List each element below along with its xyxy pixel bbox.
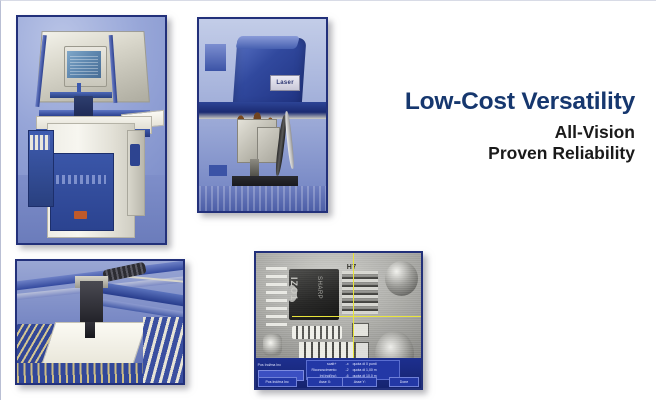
vision-ui-readout-label: scatt+ — [309, 362, 337, 366]
vision-ui-readout-value: quota di 1,00 m — [353, 368, 397, 372]
head-blue-housing-top — [235, 36, 300, 49]
vision-crosshair-vertical — [353, 253, 354, 358]
vision-ui-readout-value: quota di 0 punti — [353, 362, 397, 366]
subtitle-proven-reliability: Proven Reliability — [381, 143, 635, 164]
photo-dispense-head-closeup: Laser Close-up of blue gantry dispense h… — [197, 17, 328, 213]
vision-ui-readout-label: Riconoscimento — [309, 368, 337, 372]
machine-cabinet-handle — [74, 211, 87, 219]
gantry-right-feeders — [143, 317, 183, 383]
gantry-head — [80, 281, 103, 322]
vision-photo-scene: IZO1 SHARP H7 Pos Ind/ma Inc scatt+ -x — [256, 253, 421, 388]
vision-ui-readout-index: -2 — [340, 368, 348, 372]
gantry-photo-scene — [17, 261, 183, 383]
vision-ui-status-bar: Pos Ind/ma Inc scatt+ -x quota di 0 punt… — [256, 358, 421, 388]
vision-ui-button-pos[interactable]: Pos Ind/ma Inc — [258, 377, 297, 388]
vision-ui-readout-index: -x — [340, 362, 348, 366]
head-photo-scene: Laser — [199, 19, 326, 211]
gantry-bottom-feeders — [17, 363, 146, 383]
vision-crosshair-horizontal — [292, 316, 421, 317]
head-circuit-board — [199, 186, 326, 211]
vision-ui-axis-x-label[interactable]: Asse X: — [307, 377, 343, 388]
machine-monitor-screen — [67, 51, 101, 78]
page-title: Low-Cost Versatility — [381, 89, 635, 115]
gantry-cable-carrier — [103, 262, 148, 283]
head-laser-nameplate: Laser — [270, 75, 300, 91]
machine-cabinet-door — [50, 153, 114, 232]
machine-right-column — [127, 130, 145, 216]
subtitle-all-vision: All-Vision — [381, 122, 635, 143]
headline-text-block: Low-Cost Versatility All-Vision Proven R… — [381, 89, 635, 164]
machine-cabinet-graphic — [56, 175, 106, 184]
photo-gantry-laser-on-panel: Gantry head projecting red laser onto bo… — [15, 259, 185, 385]
vision-ui-button-done[interactable]: Done — [389, 377, 420, 388]
machine-left-slots — [30, 135, 51, 151]
machine-right-blue-module — [130, 144, 140, 167]
head-nozzle — [250, 159, 259, 176]
head-left-blue-bracket — [209, 165, 227, 177]
vision-ui-mode-label: Pos Ind/ma Inc — [258, 359, 303, 371]
photo-machine-vision-screen: IZO1 SHARP H7 Pos Ind/ma Inc scatt+ -x — [254, 251, 423, 390]
photo-benchtop-dispensing-machine: Floor-standing dispensing system with ov… — [16, 15, 167, 245]
head-white-cable — [284, 111, 295, 169]
machine-photo-scene — [18, 17, 165, 243]
head-left-blue-block — [205, 44, 225, 71]
vision-ui-axis-y-label[interactable]: Asse Y: — [342, 377, 378, 388]
brochure-slide: Floor-standing dispensing system with ov… — [0, 0, 656, 400]
